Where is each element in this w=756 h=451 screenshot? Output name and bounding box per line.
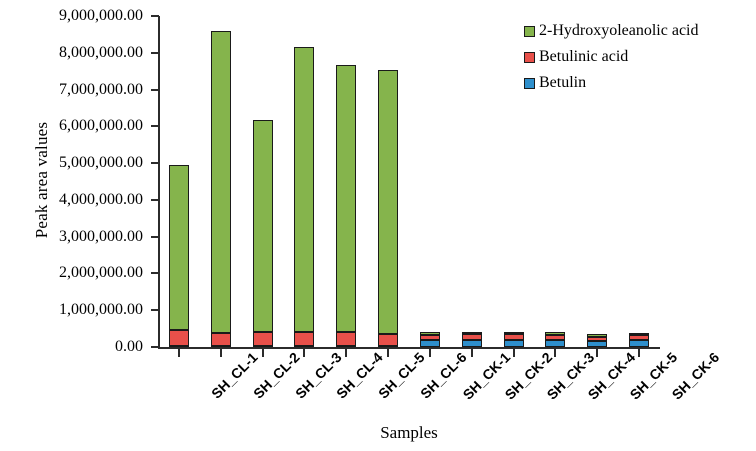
y-axis-line <box>158 16 160 347</box>
bar-segment[interactable] <box>253 332 273 347</box>
bar-stack[interactable] <box>504 333 524 347</box>
bar-segment[interactable] <box>545 340 565 347</box>
y-axis-tick-mark <box>151 162 159 164</box>
y-axis-tick-label: 2,000,000.00 <box>0 265 143 281</box>
y-axis-tick-label: 1,000,000.00 <box>0 302 143 318</box>
bar-segment[interactable] <box>169 330 189 346</box>
legend-item-label: 2-Hydroxyoleanolic acid <box>539 23 699 39</box>
y-axis-tick-mark <box>151 309 159 311</box>
bar-segment[interactable] <box>587 337 607 342</box>
chart-legend: 2-Hydroxyoleanolic acidBetulinic acidBet… <box>524 18 756 96</box>
y-axis-tick-label: 3,000,000.00 <box>0 229 143 245</box>
bar-segment[interactable] <box>504 332 524 335</box>
bar-segment[interactable] <box>587 334 607 337</box>
legend-item[interactable]: Betulinic acid <box>524 44 756 70</box>
bar-segment[interactable] <box>462 334 482 340</box>
bar-segment[interactable] <box>420 332 440 335</box>
y-axis-tick-mark <box>151 199 159 201</box>
legend-swatch-icon <box>524 78 535 89</box>
bar-stack[interactable] <box>545 333 565 347</box>
y-axis-tick-mark <box>151 346 159 348</box>
bar-segment[interactable] <box>294 332 314 346</box>
legend-item[interactable]: Betulin <box>524 70 756 96</box>
bar-stack[interactable] <box>211 31 231 347</box>
bar-stack[interactable] <box>169 165 189 347</box>
bar-stack[interactable] <box>420 333 440 347</box>
bar-segment[interactable] <box>378 334 398 347</box>
bar-segment[interactable] <box>545 332 565 335</box>
y-axis-tick-label: 8,000,000.00 <box>0 45 143 61</box>
bar-stack[interactable] <box>253 120 273 347</box>
bar-segment[interactable] <box>169 165 189 330</box>
bar-segment[interactable] <box>545 335 565 341</box>
y-axis-tick-label: 0.00 <box>0 339 143 355</box>
y-axis-tick-mark <box>151 52 159 54</box>
bar-stack[interactable] <box>294 47 314 347</box>
bar-segment[interactable] <box>253 120 273 332</box>
x-axis-tick-labels: SH_CL-1SH_CL-2SH_CL-3SH_CL-4SH_CL-5SH_CL… <box>158 349 660 419</box>
legend-item-label: Betulinic acid <box>539 49 628 65</box>
bar-segment[interactable] <box>336 332 356 346</box>
bar-stack[interactable] <box>587 336 607 347</box>
bar-segment[interactable] <box>420 340 440 347</box>
bar-segment[interactable] <box>504 340 524 347</box>
bar-segment[interactable] <box>211 31 231 333</box>
legend-swatch-icon <box>524 26 535 37</box>
bar-segment[interactable] <box>211 333 231 347</box>
bar-stack[interactable] <box>629 334 649 347</box>
bar-segment[interactable] <box>629 335 649 340</box>
bar-segment[interactable] <box>378 70 398 334</box>
y-axis-tick-mark <box>151 89 159 91</box>
y-axis-tick-label: 4,000,000.00 <box>0 192 143 208</box>
bar-stack[interactable] <box>462 333 482 347</box>
y-axis-tick-label: 7,000,000.00 <box>0 82 143 98</box>
y-axis-tick-mark <box>151 236 159 238</box>
bar-segment[interactable] <box>420 335 440 340</box>
bar-segment[interactable] <box>294 47 314 332</box>
bar-stack[interactable] <box>336 65 356 347</box>
y-axis-tick-label: 6,000,000.00 <box>0 118 143 134</box>
y-axis-tick-label: 9,000,000.00 <box>0 8 143 24</box>
bar-segment[interactable] <box>629 333 649 336</box>
bar-segment[interactable] <box>336 65 356 332</box>
y-axis-tick-label: 5,000,000.00 <box>0 155 143 171</box>
bar-segment[interactable] <box>462 340 482 347</box>
bar-segment[interactable] <box>462 332 482 335</box>
y-axis-tick-mark <box>151 272 159 274</box>
bar-segment[interactable] <box>504 334 524 340</box>
legend-item-label: Betulin <box>539 75 586 91</box>
stacked-bar-chart: Peak area values 0.001,000,000.002,000,0… <box>0 0 756 451</box>
y-axis-tick-labels: 0.001,000,000.002,000,000.003,000,000.00… <box>0 0 143 451</box>
legend-item[interactable]: 2-Hydroxyoleanolic acid <box>524 18 756 44</box>
x-axis-title: Samples <box>158 423 660 443</box>
bar-segment[interactable] <box>587 341 607 347</box>
y-axis-tick-mark <box>151 125 159 127</box>
y-axis-tick-mark <box>151 15 159 17</box>
legend-swatch-icon <box>524 52 535 63</box>
bar-segment[interactable] <box>629 340 649 347</box>
bar-stack[interactable] <box>378 70 398 347</box>
